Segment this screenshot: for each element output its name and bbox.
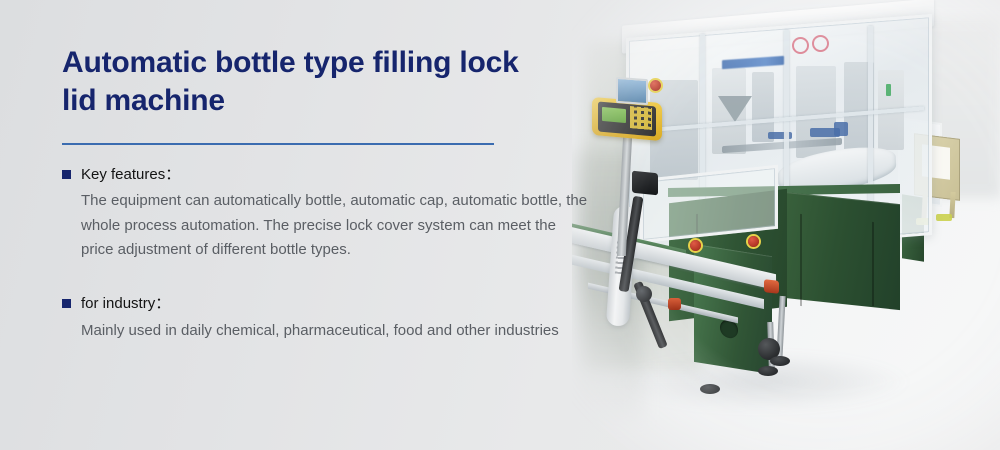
- feature-heading-row: Key features：: [62, 165, 602, 185]
- cabinet-panel-seam: [872, 222, 874, 306]
- hmi-touch-screen: [616, 77, 648, 105]
- red-control-knob: [764, 279, 779, 294]
- feature-block-for-industry: for industry： Mainly used in daily chemi…: [62, 294, 602, 343]
- emergency-stop-button-icon: [690, 240, 701, 251]
- beige-frame-pad: [936, 214, 952, 221]
- product-photo-canvas: [572, 0, 1000, 450]
- filling-hopper: [718, 96, 752, 122]
- title-divider: [62, 143, 494, 145]
- leveling-foot: [700, 384, 720, 394]
- control-panel-keypad: [630, 106, 652, 130]
- feature-heading-label: for industry：: [81, 294, 170, 314]
- product-photo: [572, 0, 1000, 450]
- feature-body-text: The equipment can automatically bottle, …: [81, 189, 589, 262]
- feature-heading-label: Key features：: [81, 165, 180, 185]
- banner-text-column: Automatic bottle type filling lock lid m…: [62, 44, 602, 343]
- square-bullet-icon: [62, 299, 71, 308]
- pneumatic-blue-component: [834, 122, 848, 136]
- warning-sticker-icon: [792, 37, 809, 54]
- emergency-stop-button-icon: [650, 80, 661, 91]
- leveling-foot: [770, 356, 790, 366]
- red-control-knob: [668, 298, 681, 310]
- cabinet-panel-seam: [800, 214, 802, 306]
- feature-block-key-features: Key features： The equipment can automati…: [62, 165, 602, 262]
- feature-body-text: Mainly used in daily chemical, pharmaceu…: [81, 319, 589, 343]
- feature-heading-row: for industry：: [62, 294, 602, 314]
- leveling-foot: [758, 366, 778, 376]
- pneumatic-block: [632, 171, 658, 196]
- square-bullet-icon: [62, 170, 71, 179]
- emergency-stop-button-icon: [748, 236, 759, 247]
- product-banner: Automatic bottle type filling lock lid m…: [0, 0, 1000, 450]
- control-panel-lcd-display: [602, 107, 626, 123]
- warning-sticker-icon: [812, 35, 829, 52]
- page-title: Automatic bottle type filling lock lid m…: [62, 44, 532, 121]
- status-led: [886, 84, 891, 96]
- robotic-arm-joint: [636, 286, 652, 302]
